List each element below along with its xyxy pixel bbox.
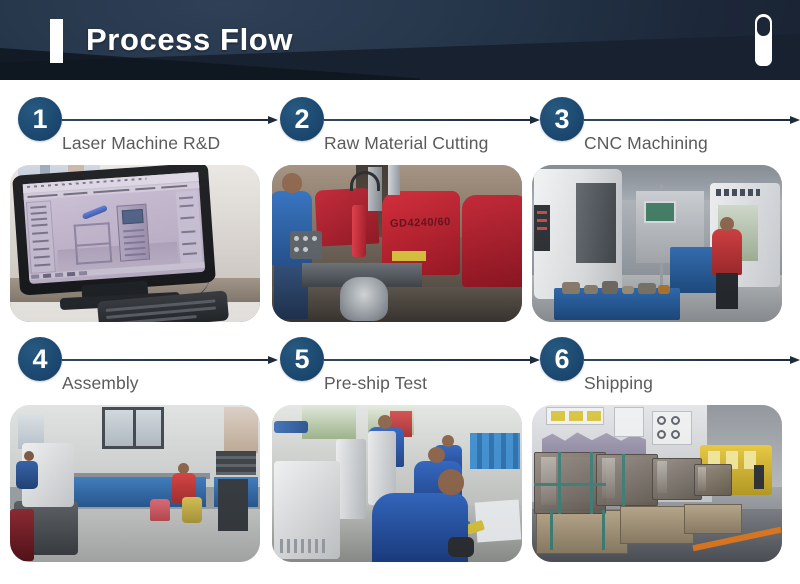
flow-step-2[interactable]: 2 Raw Material Cutting (272, 80, 532, 332)
photo-shipping (532, 405, 782, 562)
photo-raw-material-cutting: GD4240/60 (272, 165, 522, 322)
header-accent-bar (50, 19, 63, 63)
page-header: Process Flow (0, 0, 800, 80)
flow-row-1: 1 Laser Machine R&D (0, 80, 800, 332)
flow-row-2: 4 Assembly (0, 320, 800, 572)
step-label: Pre-ship Test (324, 373, 427, 394)
step-number-badge: 1 (18, 97, 62, 141)
photo-cnc-machining (532, 165, 782, 322)
step-number-badge: 6 (540, 337, 584, 381)
flow-step-4[interactable]: 4 Assembly (10, 320, 270, 572)
step-label: CNC Machining (584, 133, 708, 154)
photo-assembly (10, 405, 260, 562)
step-arrow (324, 356, 540, 364)
step-label: Shipping (584, 373, 653, 394)
flow-step-5[interactable]: 5 Pre-ship Test (272, 320, 532, 572)
process-flow-page: Process Flow 1 Laser Machine R&D (0, 0, 800, 584)
step-number-badge: 4 (18, 337, 62, 381)
capsule-indicator-icon (755, 14, 772, 66)
step-arrow (584, 116, 800, 124)
step-number-badge: 2 (280, 97, 324, 141)
step-label: Laser Machine R&D (62, 133, 220, 154)
flow-step-6[interactable]: 6 Shipping (532, 320, 792, 572)
photo-laser-machine-rd (10, 165, 260, 322)
flow-step-3[interactable]: 3 CNC Machining (532, 80, 792, 332)
step-label: Raw Material Cutting (324, 133, 488, 154)
step-number-badge: 3 (540, 97, 584, 141)
step-arrow (62, 116, 278, 124)
process-flow-grid: 1 Laser Machine R&D (0, 80, 800, 584)
photo-pre-ship-test (272, 405, 522, 562)
page-title: Process Flow (86, 18, 293, 62)
step-arrow (584, 356, 800, 364)
step-number-badge: 5 (280, 337, 324, 381)
step-arrow (62, 356, 278, 364)
step-label: Assembly (62, 373, 139, 394)
step-arrow (324, 116, 540, 124)
flow-step-1[interactable]: 1 Laser Machine R&D (10, 80, 270, 332)
